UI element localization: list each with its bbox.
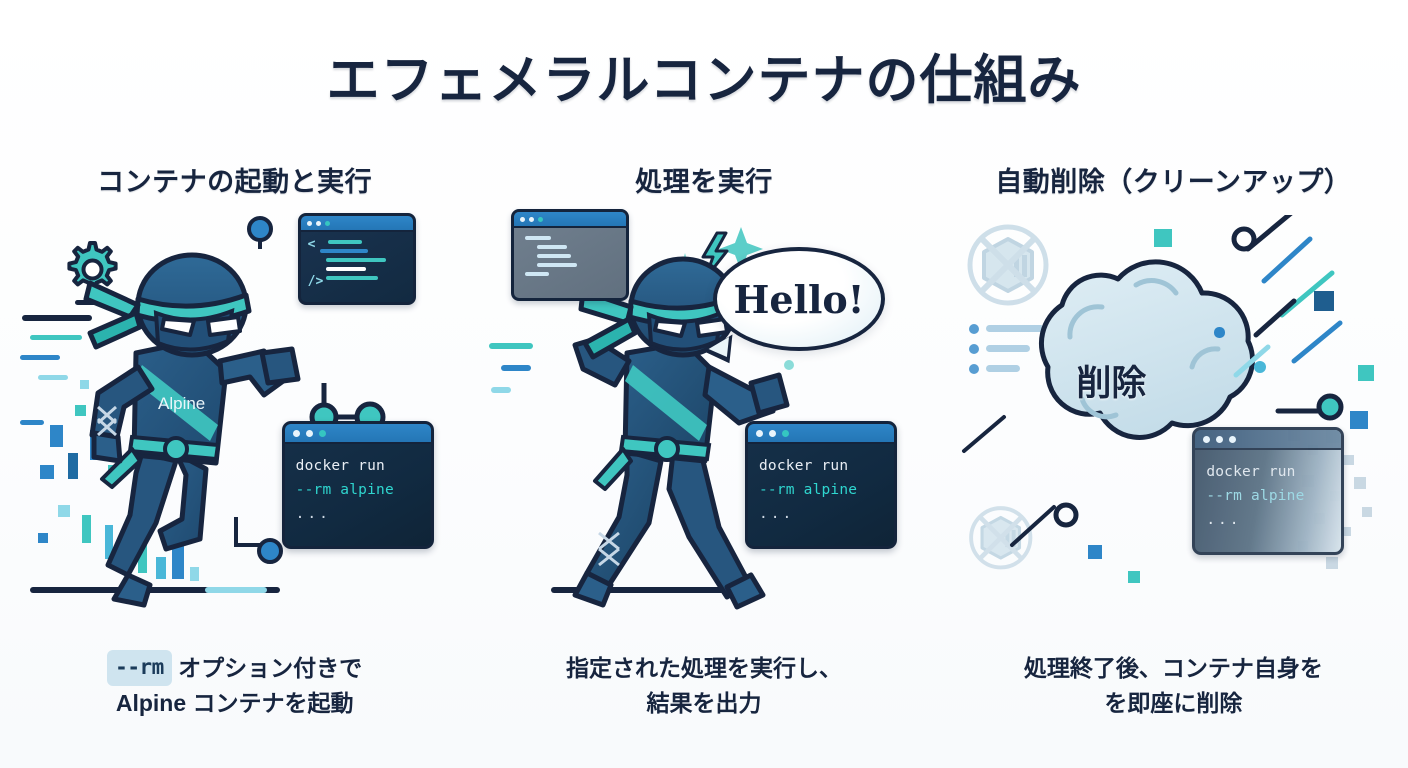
- scene-startup: Alpine: [20, 215, 450, 615]
- speech-bubble-text: Hello!: [733, 277, 864, 322]
- terminal-window-cleanup: docker run --rm alpine ...: [1192, 427, 1344, 555]
- angle-open-icon: <: [308, 237, 316, 252]
- caption-line-1: 指定された処理を実行し、: [566, 655, 842, 681]
- speech-bubble-tail-inner: [708, 335, 729, 357]
- panel-caption-startup: --rm オプション付きで Alpine コンテナを起動: [0, 650, 469, 722]
- scene-cleanup-art: [958, 215, 1388, 615]
- panel-cleanup: 自動削除（クリーンアップ）: [939, 150, 1408, 750]
- window-dot-minimize: [306, 430, 313, 437]
- window-dot-minimize: [316, 221, 321, 226]
- scene-execute: Hello! docker run --rm alpine ...: [489, 215, 919, 615]
- panel-heading-cleanup: 自動削除（クリーンアップ）: [995, 160, 1351, 199]
- code-editor-window: [511, 209, 629, 301]
- ninja-badge-label: Alpine: [158, 394, 205, 413]
- cloud-delete-label: 削除: [1076, 355, 1146, 406]
- panel-caption-cleanup: 処理終了後、コンテナ自身を を即座に削除: [939, 651, 1408, 722]
- connector-node: [249, 218, 271, 240]
- panel-columns: コンテナの起動と実行: [0, 150, 1408, 750]
- delete-cloud: [1042, 262, 1253, 438]
- panel-startup: コンテナの起動と実行: [0, 150, 469, 750]
- window-dot-maximize: [538, 217, 543, 222]
- window-dot-minimize: [769, 430, 776, 437]
- panel-heading-execute: 処理を実行: [635, 160, 773, 199]
- window-dot-maximize: [325, 221, 330, 226]
- window-dot-close: [1203, 436, 1210, 443]
- window-titlebar: [514, 212, 626, 228]
- terminal-line-2: --rm alpine: [759, 479, 894, 503]
- scene-cleanup: 削除 docker run --rm alpine ...: [958, 215, 1388, 615]
- panel-execute: 処理を実行: [469, 150, 938, 750]
- caption-line-1: 処理終了後、コンテナ自身を: [1024, 655, 1323, 681]
- terminal-line-1: docker run: [759, 455, 894, 479]
- accent-dashes: [489, 343, 533, 393]
- window-dot-close: [520, 217, 525, 222]
- terminal-line-1: docker run: [1206, 461, 1341, 485]
- terminal-line-2: --rm alpine: [296, 479, 431, 503]
- terminal-line-3: ...: [296, 503, 431, 527]
- window-titlebar: [1195, 430, 1341, 450]
- list-lines: [969, 324, 1044, 374]
- terminal-window-execute: docker run --rm alpine ...: [745, 421, 897, 549]
- caption-line-2: Alpine コンテナを起動: [116, 690, 354, 716]
- caption-line-2: を即座に削除: [1104, 690, 1242, 716]
- angle-close-icon: />: [308, 274, 324, 289]
- code-lines: < />: [301, 232, 413, 293]
- window-dot-maximize: [1229, 436, 1236, 443]
- window-dot-minimize: [1216, 436, 1223, 443]
- window-dot-minimize: [529, 217, 534, 222]
- terminal-line-2: --rm alpine: [1206, 485, 1341, 509]
- window-dot-close: [307, 221, 312, 226]
- caption-line-2: 結果を出力: [646, 690, 761, 716]
- infographic-page: エフェメラルコンテナの仕組み コンテナの起動と実行: [0, 0, 1408, 768]
- window-titlebar: [301, 216, 413, 232]
- terminal-body: docker run --rm alpine ...: [285, 444, 431, 527]
- caption-line-1: オプション付きで: [172, 655, 362, 681]
- code-editor-window: < />: [298, 213, 416, 305]
- code-lines: [514, 228, 626, 289]
- window-titlebar: [748, 424, 894, 444]
- page-title: エフェメラルコンテナの仕組み: [0, 38, 1408, 114]
- window-dot-maximize: [782, 430, 789, 437]
- terminal-line-3: ...: [1206, 509, 1341, 533]
- window-dot-maximize: [319, 430, 326, 437]
- rm-flag-chip: --rm: [107, 650, 172, 687]
- terminal-line-3: ...: [759, 503, 894, 527]
- terminal-window-startup: docker run --rm alpine ...: [282, 421, 434, 549]
- window-dot-close: [756, 430, 763, 437]
- connector-node: [259, 540, 281, 562]
- crossed-container-icon: [970, 227, 1046, 303]
- panel-heading-startup: コンテナの起動と実行: [97, 160, 372, 199]
- terminal-body: docker run --rm alpine ...: [748, 444, 894, 527]
- window-dot-close: [293, 430, 300, 437]
- window-titlebar: [285, 424, 431, 444]
- terminal-body: docker run --rm alpine ...: [1195, 450, 1341, 533]
- panel-caption-execute: 指定された処理を実行し、 結果を出力: [469, 651, 938, 722]
- terminal-line-1: docker run: [296, 455, 431, 479]
- speech-bubble: Hello!: [713, 247, 885, 351]
